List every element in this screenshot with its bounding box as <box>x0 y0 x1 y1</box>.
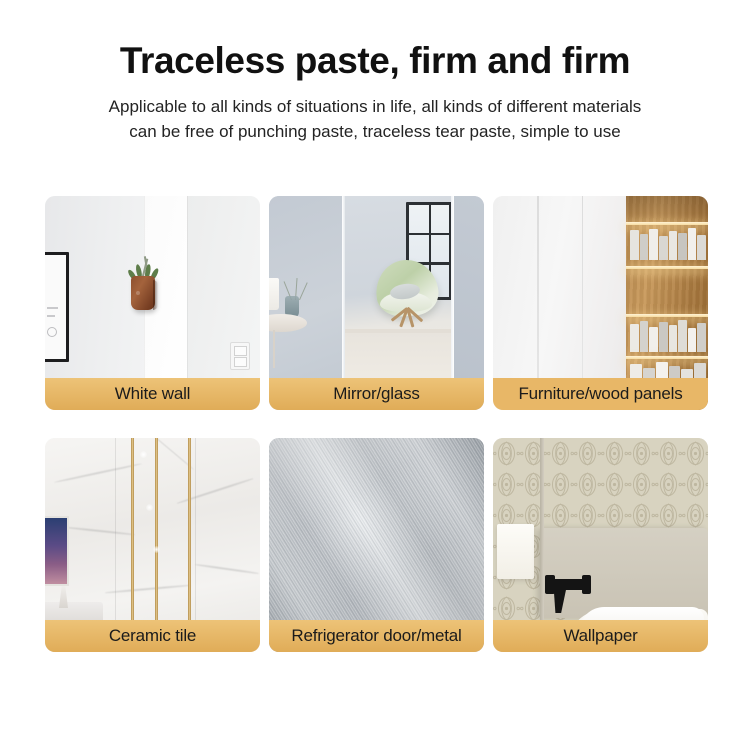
framed-picture <box>45 252 69 362</box>
hanging-planter <box>131 276 155 310</box>
card-label-ceramic-tile: Ceramic tile <box>45 620 260 652</box>
card-label-white-wall: White wall <box>45 378 260 410</box>
application-surface-grid: White wall <box>45 196 708 652</box>
card-label-wallpaper: Wallpaper <box>493 620 708 652</box>
card-wallpaper[interactable]: Wallpaper <box>493 438 708 652</box>
card-mirror-glass[interactable]: Mirror/glass <box>269 196 484 410</box>
card-label-refrigerator-door-metal: Refrigerator door/metal <box>269 620 484 652</box>
light-switch <box>230 342 250 370</box>
card-ceramic-tile[interactable]: Ceramic tile <box>45 438 260 652</box>
adhesive-hook <box>545 575 591 605</box>
header: Traceless paste, firm and firm Applicabl… <box>0 0 750 144</box>
card-white-wall[interactable]: White wall <box>45 196 260 410</box>
page-subtitle: Applicable to all kinds of situations in… <box>50 95 700 145</box>
page-title: Traceless paste, firm and firm <box>0 42 750 81</box>
card-label-furniture-wood-panels: Furniture/wood panels <box>493 378 708 410</box>
table-lamp <box>269 278 279 310</box>
card-furniture-wood-panels[interactable]: Furniture/wood panels <box>493 196 708 410</box>
wall-sconce <box>497 524 534 580</box>
card-refrigerator-door-metal[interactable]: Refrigerator door/metal <box>269 438 484 652</box>
framed-artwork <box>45 516 69 586</box>
subtitle-line-1: Applicable to all kinds of situations in… <box>109 97 642 116</box>
subtitle-line-2: can be free of punching paste, traceless… <box>50 120 700 145</box>
card-label-mirror-glass: Mirror/glass <box>269 378 484 410</box>
product-infographic: Traceless paste, firm and firm Applicabl… <box>0 0 750 750</box>
